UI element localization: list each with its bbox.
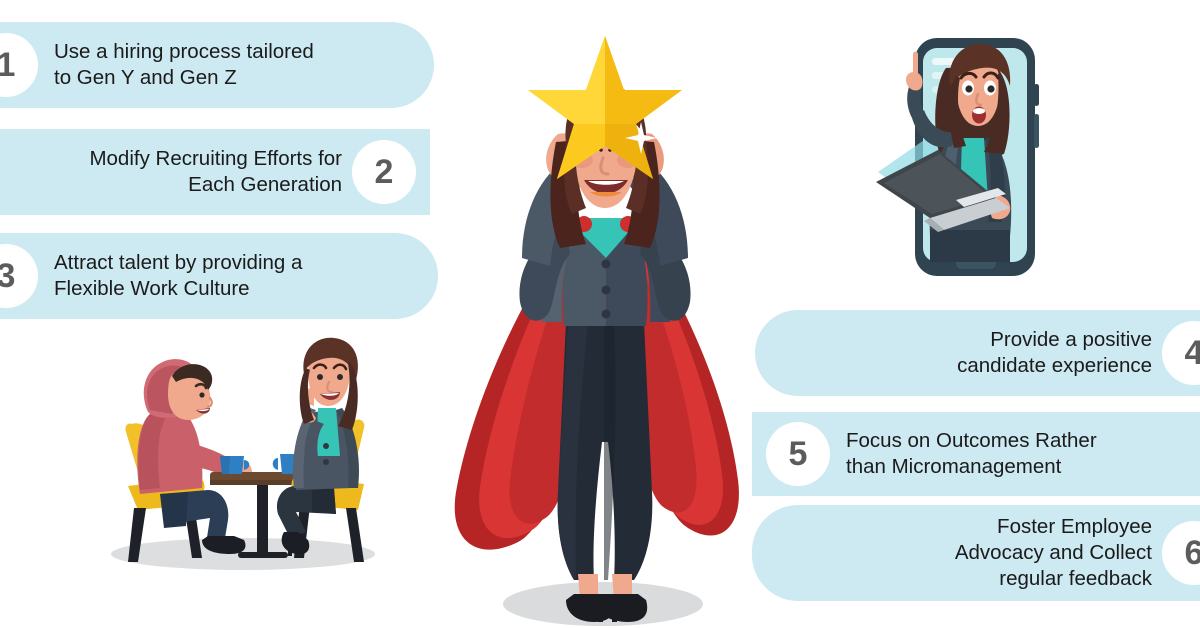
- tip-5-pill[interactable]: 5 Focus on Outcomes Rather than Microman…: [752, 412, 1200, 496]
- tip-4-number: 4: [1162, 321, 1200, 385]
- tip-1-text: Use a hiring process tailored to Gen Y a…: [54, 39, 314, 91]
- phone-illustration: [860, 22, 1070, 292]
- tip-1-pill[interactable]: 1 Use a hiring process tailored to Gen Y…: [0, 22, 434, 108]
- tip-3-text: Attract talent by providing a Flexible W…: [54, 250, 302, 302]
- tip-5-number: 5: [766, 422, 830, 486]
- tip-6-number: 6: [1162, 521, 1200, 585]
- tip-5-text: Focus on Outcomes Rather than Micromanag…: [846, 428, 1097, 480]
- tip-4-pill[interactable]: Provide a positive candidate experience …: [755, 310, 1200, 396]
- tip-2-number: 2: [352, 140, 416, 204]
- cafe-interview-illustration: [98, 328, 388, 574]
- tip-3-pill[interactable]: 3 Attract talent by providing a Flexible…: [0, 233, 438, 319]
- tip-3-number: 3: [0, 244, 38, 308]
- infographic-canvas: 1 Use a hiring process tailored to Gen Y…: [0, 0, 1200, 628]
- tip-2-pill[interactable]: Modify Recruiting Efforts for Each Gener…: [0, 129, 430, 215]
- tip-4-text: Provide a positive candidate experience: [957, 327, 1152, 379]
- tip-1-number: 1: [0, 33, 38, 97]
- tip-2-text: Modify Recruiting Efforts for Each Gener…: [89, 146, 342, 198]
- tip-6-pill[interactable]: Foster Employee Advocacy and Collect reg…: [752, 505, 1200, 601]
- tip-6-text: Foster Employee Advocacy and Collect reg…: [955, 514, 1152, 593]
- hero-illustration: [438, 22, 768, 628]
